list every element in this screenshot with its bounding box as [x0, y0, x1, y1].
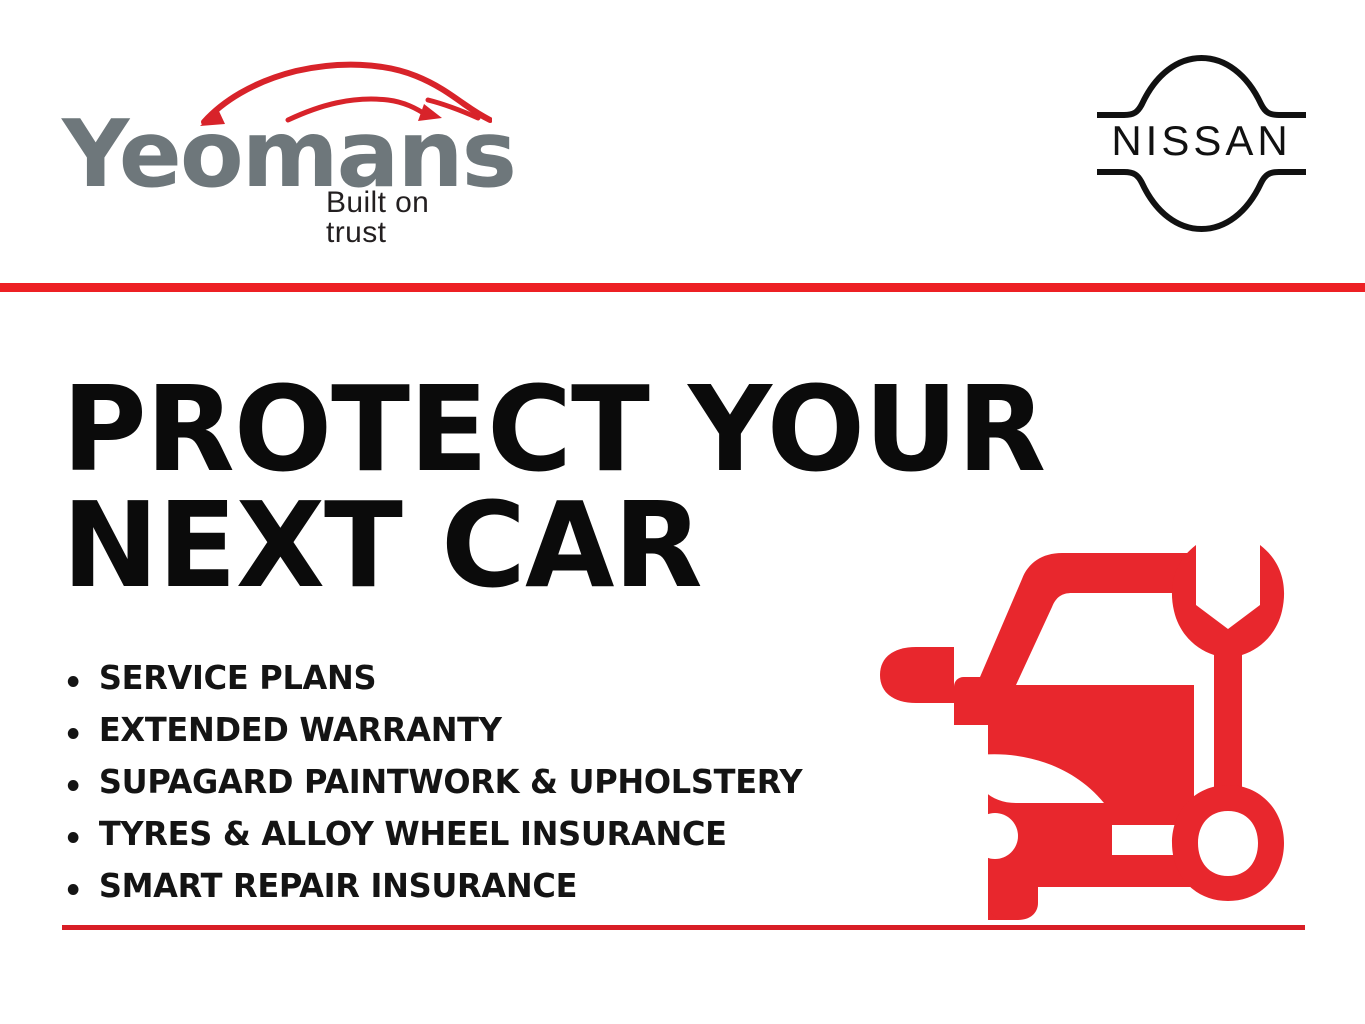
benefit-label: EXTENDED WARRANTY [99, 710, 502, 749]
car-and-wrench-icon [876, 535, 1288, 920]
list-item: EXTENDED WARRANTY [62, 712, 867, 749]
benefit-label: SERVICE PLANS [99, 658, 376, 697]
benefits-list: SERVICE PLANS EXTENDED WARRANTY SUPAGARD… [62, 660, 892, 920]
list-item: TYRES & ALLOY WHEEL INSURANCE [62, 816, 867, 853]
benefit-label: TYRES & ALLOY WHEEL INSURANCE [99, 814, 727, 853]
car-front-icon [880, 553, 1194, 920]
nissan-wordmark: NISSAN [1111, 117, 1291, 164]
poster-main: PROTECT YOUR NEXT CAR SERVICE PLANS EXTE… [0, 292, 1365, 925]
list-item: SUPAGARD PAINTWORK & UPHOLSTERY [62, 764, 867, 801]
headline-line-1: PROTECT YOUR [62, 372, 1297, 488]
benefit-label: SMART REPAIR INSURANCE [99, 866, 577, 905]
nissan-emblem-icon: NISSAN [1094, 52, 1309, 235]
dealer-tagline: Built on trust [326, 188, 492, 248]
poster-header: Yeomans Built on trust NISSAN [0, 0, 1365, 283]
promo-poster: Yeomans Built on trust NISSAN PROTECT YO… [0, 0, 1365, 1024]
bullet-icon [68, 676, 79, 687]
bullet-icon [68, 780, 79, 791]
bullet-icon [68, 728, 79, 739]
benefit-label: SUPAGARD PAINTWORK & UPHOLSTERY [99, 762, 802, 801]
fog-lamp-dot [972, 813, 1018, 859]
list-item: SMART REPAIR INSURANCE [62, 868, 867, 905]
dealer-logo: Yeomans Built on trust [62, 60, 492, 225]
header-divider-rule [0, 283, 1365, 292]
bullet-icon [68, 832, 79, 843]
footer-divider-rule [62, 925, 1305, 930]
bullet-icon [68, 884, 79, 895]
list-item: SERVICE PLANS [62, 660, 867, 697]
